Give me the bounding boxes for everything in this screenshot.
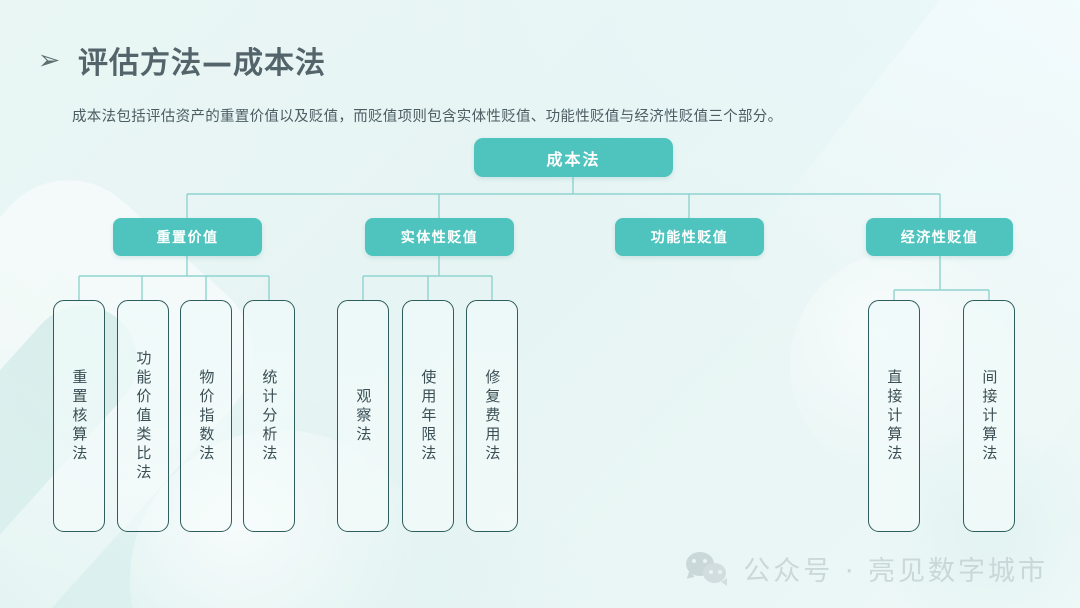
leaf-node[interactable]: 重置核算法	[53, 300, 105, 532]
leaf-label: 功能价值类比法	[134, 350, 153, 483]
leaf-node[interactable]: 直接计算法	[868, 300, 920, 532]
node-branch-physical-depreciation[interactable]: 实体性贬值	[365, 218, 514, 256]
node-branch-label: 重置价值	[157, 227, 219, 247]
leaf-label: 观察法	[354, 388, 373, 445]
page-subtitle: 成本法包括评估资产的重置价值以及贬值，而贬值项则包含实体性贬值、功能性贬值与经济…	[72, 105, 782, 126]
leaf-node[interactable]: 间接计算法	[963, 300, 1015, 532]
footer-text: 公众号 · 亮见数字城市	[743, 549, 1048, 588]
footer-watermark: 公众号 · 亮见数字城市	[686, 549, 1048, 588]
leaf-node[interactable]: 修复费用法	[466, 300, 518, 532]
node-branch-label: 实体性贬值	[401, 227, 479, 247]
leaf-label: 统计分析法	[260, 369, 279, 464]
leaf-node[interactable]: 使用年限法	[402, 300, 454, 532]
node-branch-functional-depreciation[interactable]: 功能性贬值	[615, 218, 764, 256]
cost-method-diagram: 成本法 重置价值 实体性贬值 功能性贬值 经济性贬值 重置核算法 功能价值类比法…	[0, 0, 1080, 608]
leaf-label: 物价指数法	[197, 369, 216, 464]
wechat-icon	[686, 551, 730, 587]
title-row: ➢ 评估方法—成本法	[36, 38, 326, 82]
node-branch-label: 功能性贬值	[651, 227, 729, 247]
node-branch-label: 经济性贬值	[901, 227, 979, 247]
node-root-label: 成本法	[546, 146, 600, 170]
node-root[interactable]: 成本法	[474, 138, 673, 177]
leaf-node[interactable]: 观察法	[337, 300, 389, 532]
arrow-bullet-icon: ➢	[36, 45, 62, 75]
leaf-label: 修复费用法	[483, 369, 502, 464]
leaf-label: 使用年限法	[419, 369, 438, 464]
node-branch-replacement-value[interactable]: 重置价值	[113, 218, 262, 256]
leaf-label: 直接计算法	[885, 369, 904, 464]
leaf-node[interactable]: 物价指数法	[180, 300, 232, 532]
leaf-label: 重置核算法	[70, 369, 89, 464]
leaf-label: 间接计算法	[980, 369, 999, 464]
leaf-node[interactable]: 统计分析法	[243, 300, 295, 532]
leaf-node[interactable]: 功能价值类比法	[117, 300, 169, 532]
page-title: 评估方法—成本法	[78, 38, 326, 82]
node-branch-economic-depreciation[interactable]: 经济性贬值	[866, 218, 1013, 256]
